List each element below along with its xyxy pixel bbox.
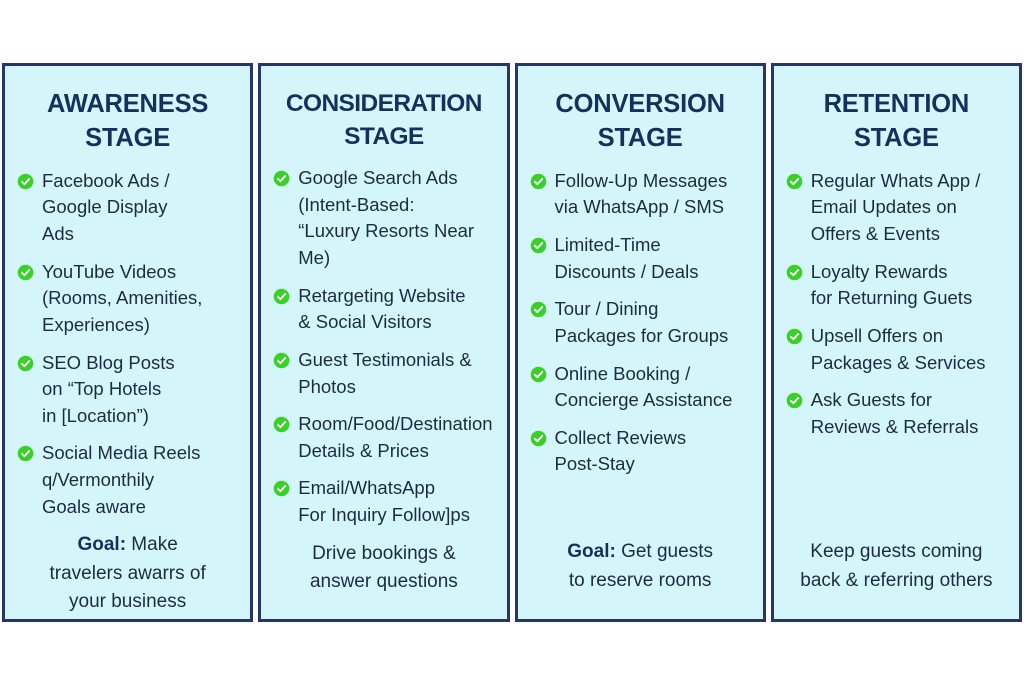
list-item: Social Media Reels q/Vermonthily Goals a…: [17, 440, 240, 520]
stage-goal-label: Goal:: [77, 534, 126, 555]
check-circle-icon: [273, 288, 290, 305]
list-item-label: Collect Reviews Post-Stay: [555, 425, 753, 478]
list-item-label: Social Media Reels q/Vermonthily Goals a…: [42, 440, 240, 520]
list-item-label: YouTube Videos (Rooms, Amenities, Experi…: [42, 259, 240, 339]
list-item: YouTube Videos (Rooms, Amenities, Experi…: [17, 259, 240, 339]
list-item-label: Guest Testimonials & Photos: [298, 347, 496, 400]
stage-title: AWARENESS STAGE: [15, 88, 240, 156]
stage-item-list: Facebook Ads / Google Display AdsYouTube…: [15, 168, 240, 532]
stage-goal-text: Drive bookings & answer questions: [310, 543, 458, 593]
list-item-label: Upsell Offers on Packages & Services: [811, 323, 1009, 376]
check-circle-icon: [530, 366, 547, 383]
list-item-label: Online Booking / Concierge Assistance: [555, 361, 753, 414]
stage-card-retention: RETENTION STAGERegular Whats App / Email…: [771, 63, 1022, 622]
check-circle-icon: [530, 173, 547, 190]
list-item: Tour / Dining Packages for Groups: [530, 296, 753, 349]
list-item-label: Regular Whats App / Email Updates on Off…: [811, 168, 1009, 248]
list-item: Loyalty Rewards for Returning Guets: [786, 259, 1009, 312]
stage-goal: Goal: Make travelers awarrs of your busi…: [15, 531, 240, 617]
list-item: Online Booking / Concierge Assistance: [530, 361, 753, 414]
list-item-label: Follow-Up Messages via WhatsApp / SMS: [555, 168, 753, 221]
list-item: Guest Testimonials & Photos: [273, 347, 496, 400]
stage-item-list: Regular Whats App / Email Updates on Off…: [784, 168, 1009, 452]
stage-title: CONVERSION STAGE: [528, 88, 753, 156]
check-circle-icon: [786, 392, 803, 409]
check-circle-icon: [273, 352, 290, 369]
funnel-stages-board: AWARENESS STAGEFacebook Ads / Google Dis…: [2, 63, 1022, 622]
list-item: Ask Guests for Reviews & Referrals: [786, 387, 1009, 440]
list-item-label: SEO Blog Posts on “Top Hotels in [Locati…: [42, 350, 240, 430]
check-circle-icon: [273, 170, 290, 187]
check-circle-icon: [273, 416, 290, 433]
stage-item-list: Google Search Ads (Intent-Based: “Luxury…: [271, 165, 496, 540]
check-circle-icon: [530, 301, 547, 318]
stage-title: RETENTION STAGE: [784, 88, 1009, 156]
list-item: Upsell Offers on Packages & Services: [786, 323, 1009, 376]
stage-goal-text: Keep guests coming back & referring othe…: [800, 541, 992, 591]
stage-title: CONSIDERATION STAGE: [271, 88, 496, 153]
check-circle-icon: [273, 480, 290, 497]
stage-item-list: Follow-Up Messages via WhatsApp / SMSLim…: [528, 168, 753, 489]
check-circle-icon: [17, 264, 34, 281]
list-item: SEO Blog Posts on “Top Hotels in [Locati…: [17, 350, 240, 430]
list-item: Collect Reviews Post-Stay: [530, 425, 753, 478]
check-circle-icon: [530, 237, 547, 254]
list-item: Email/WhatsApp For Inquiry Follow]ps: [273, 475, 496, 528]
stage-card-conversion: CONVERSION STAGEFollow-Up Messages via W…: [515, 63, 766, 622]
stage-card-awareness: AWARENESS STAGEFacebook Ads / Google Dis…: [2, 63, 253, 622]
check-circle-icon: [786, 264, 803, 281]
stage-card-consideration: CONSIDERATION STAGEGoogle Search Ads (In…: [258, 63, 509, 622]
stage-goal: Keep guests coming back & referring othe…: [784, 538, 1009, 595]
list-item-label: Ask Guests for Reviews & Referrals: [811, 387, 1009, 440]
list-item: Google Search Ads (Intent-Based: “Luxury…: [273, 165, 496, 272]
check-circle-icon: [17, 173, 34, 190]
list-item: Retargeting Website & Social Visitors: [273, 283, 496, 336]
stage-goal-text: Make travelers awarrs of your business: [49, 534, 205, 612]
list-item-label: Facebook Ads / Google Display Ads: [42, 168, 240, 248]
check-circle-icon: [17, 445, 34, 462]
list-item-label: Google Search Ads (Intent-Based: “Luxury…: [298, 165, 496, 272]
check-circle-icon: [17, 355, 34, 372]
list-item-label: Tour / Dining Packages for Groups: [555, 296, 753, 349]
check-circle-icon: [530, 430, 547, 447]
list-item-label: Limited-Time Discounts / Deals: [555, 232, 753, 285]
list-item: Regular Whats App / Email Updates on Off…: [786, 168, 1009, 248]
list-item-label: Room/Food/Destination Details & Prices: [298, 411, 496, 464]
list-item-label: Retargeting Website & Social Visitors: [298, 283, 496, 336]
list-item: Facebook Ads / Google Display Ads: [17, 168, 240, 248]
list-item: Limited-Time Discounts / Deals: [530, 232, 753, 285]
list-item: Room/Food/Destination Details & Prices: [273, 411, 496, 464]
stage-goal-label: Goal:: [567, 541, 616, 562]
stage-goal: Goal: Get guests to reserve rooms: [528, 538, 753, 595]
list-item-label: Email/WhatsApp For Inquiry Follow]ps: [298, 475, 496, 528]
check-circle-icon: [786, 173, 803, 190]
list-item-label: Loyalty Rewards for Returning Guets: [811, 259, 1009, 312]
list-item: Follow-Up Messages via WhatsApp / SMS: [530, 168, 753, 221]
stage-goal: Drive bookings & answer questions: [271, 540, 496, 597]
check-circle-icon: [786, 328, 803, 345]
